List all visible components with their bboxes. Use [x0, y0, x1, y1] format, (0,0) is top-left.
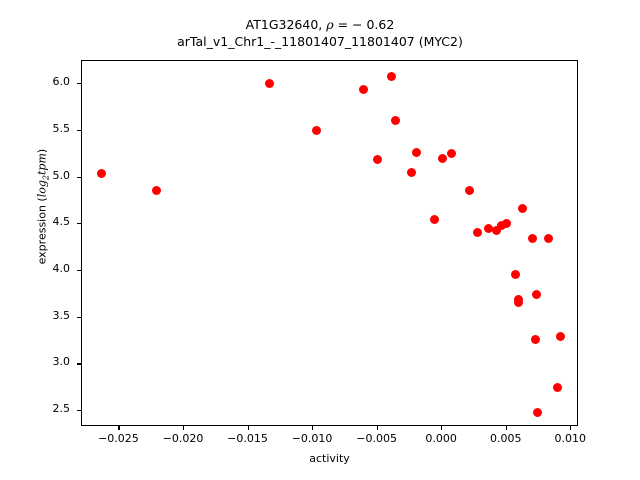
x-tick-label: 0.010 — [530, 432, 610, 445]
data-point — [412, 148, 421, 157]
data-point — [387, 72, 396, 81]
y-tick-mark — [77, 223, 81, 224]
y-tick-mark — [77, 130, 81, 131]
data-point — [391, 116, 400, 125]
data-point — [430, 215, 439, 224]
x-tick-mark — [183, 426, 184, 430]
data-point — [438, 154, 447, 163]
data-point — [553, 383, 562, 392]
data-point — [531, 335, 540, 344]
x-tick-mark — [248, 426, 249, 430]
rho-symbol: ρ — [326, 17, 333, 32]
y-axis-label-suffix: ) — [35, 149, 48, 153]
data-point — [502, 219, 511, 228]
data-point — [533, 408, 542, 417]
x-tick-mark — [506, 426, 507, 430]
x-axis-label: activity — [81, 452, 578, 465]
chart-title-line-1: AT1G32640, ρ = − 0.62 — [0, 16, 640, 33]
data-point — [152, 186, 161, 195]
x-tick-mark — [312, 426, 313, 430]
data-point — [556, 332, 565, 341]
y-tick-mark — [77, 410, 81, 411]
y-axis-label-prefix: expression ( — [35, 197, 48, 264]
data-point — [532, 290, 541, 299]
data-point — [265, 79, 274, 88]
x-tick-mark — [441, 426, 442, 430]
y-tick-mark — [77, 270, 81, 271]
data-point — [514, 298, 523, 307]
data-point — [312, 126, 321, 135]
x-tick-mark — [377, 426, 378, 430]
data-point — [518, 204, 527, 213]
x-tick-mark — [118, 426, 119, 430]
rho-value: = − 0.62 — [334, 17, 395, 32]
data-point — [473, 228, 482, 237]
scatter-plot-figure: AT1G32640, ρ = − 0.62 arTal_v1_Chr1_-_11… — [0, 0, 640, 480]
gene-id: AT1G32640, — [246, 17, 323, 32]
chart-title-line-2: arTal_v1_Chr1_-_11801407_11801407 (MYC2) — [0, 33, 640, 50]
data-point — [528, 234, 537, 243]
y-axis-label: expression (log2tpm) — [35, 67, 50, 347]
data-point — [407, 168, 416, 177]
y-tick-label: 3.0 — [0, 355, 70, 368]
y-tick-mark — [77, 363, 81, 364]
plot-frame — [81, 60, 578, 426]
data-point — [544, 234, 553, 243]
data-point — [511, 270, 520, 279]
data-point — [97, 169, 106, 178]
y-tick-mark — [77, 177, 81, 178]
y-tick-mark — [77, 83, 81, 84]
y-tick-label: 2.5 — [0, 402, 70, 415]
y-axis-label-tpm: tpm — [35, 153, 48, 175]
y-axis-label-log: log — [35, 180, 48, 197]
y-tick-mark — [77, 317, 81, 318]
data-point — [447, 149, 456, 158]
x-tick-mark — [570, 426, 571, 430]
data-point — [465, 186, 474, 195]
data-point — [359, 85, 368, 94]
plot-area — [82, 61, 577, 425]
chart-title: AT1G32640, ρ = − 0.62 arTal_v1_Chr1_-_11… — [0, 16, 640, 50]
data-point — [373, 155, 382, 164]
y-axis-label-subscript: 2 — [42, 175, 51, 180]
